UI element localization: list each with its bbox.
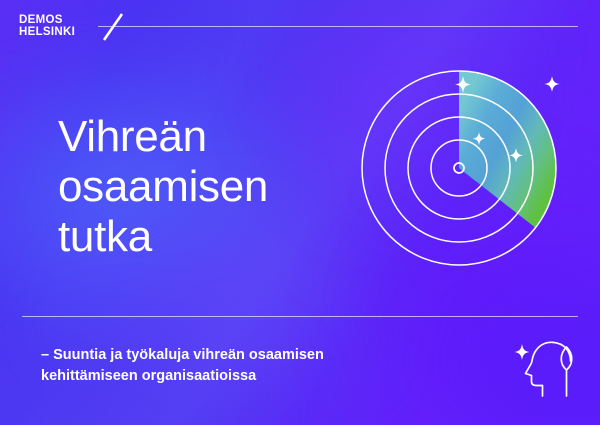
sparkle-icon-2 xyxy=(545,76,560,92)
slide-canvas: DEMOS HELSINKI Vihreän osaamisen tutka –… xyxy=(0,0,600,425)
brand-logo: DEMOS HELSINKI xyxy=(19,14,63,26)
brand-logo-line1: DEMOS xyxy=(19,14,63,26)
head-with-leaf-icon xyxy=(514,332,586,400)
page-title: Vihreän osaamisen tutka xyxy=(58,112,268,262)
brand-logo-line2: HELSINKI xyxy=(19,26,75,38)
top-divider xyxy=(98,26,578,27)
slash-icon xyxy=(103,13,123,41)
radar-graphic xyxy=(355,62,567,274)
sparkle-icon-head xyxy=(515,344,530,360)
middle-divider xyxy=(22,316,578,317)
radar-sweep-wedge xyxy=(459,71,556,228)
subtitle-text: – Suuntia ja työkaluja vihreän osaamisen… xyxy=(41,345,421,387)
